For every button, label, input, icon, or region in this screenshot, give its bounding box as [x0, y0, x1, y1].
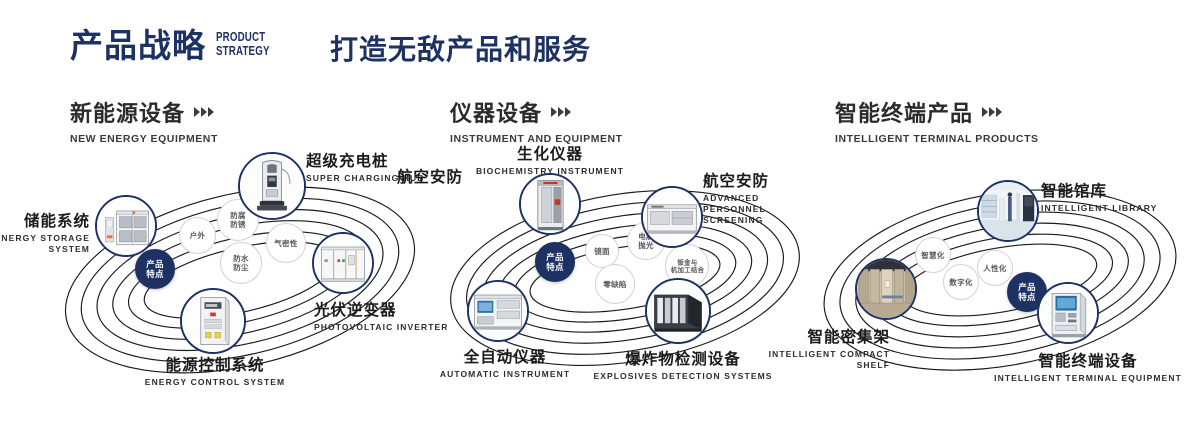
chevron-right-icon — [194, 107, 214, 117]
analyzer-icon — [643, 188, 701, 246]
node-automatic-instrument[interactable] — [467, 280, 529, 342]
node-energy-storage-system[interactable] — [95, 195, 157, 257]
page-title: 产品战略 — [70, 26, 206, 66]
charging-pile-icon — [240, 154, 304, 218]
node-advanced-personnel-screening[interactable] — [641, 186, 703, 248]
caption-explosives-detection: 爆炸物检测设备 EXPLOSIVES DETECTION SYSTEMS — [593, 350, 773, 382]
section-title-en: INTELLIGENT TERMINAL PRODUCTS — [835, 133, 1039, 145]
section-title-cn: 智能终端产品 — [835, 96, 973, 128]
poster-canvas: 产品战略 PRODUCT STRATEGY 打造无敌产品和服务 新能源设备 NE… — [0, 0, 1200, 422]
section-title-cn: 仪器设备 — [450, 96, 542, 128]
section-title-intelligent: 智能终端产品 INTELLIGENT TERMINAL PRODUCTS — [835, 96, 1039, 145]
product-feature-center-badge: 产品 特点 — [135, 249, 175, 289]
section-title-en: NEW ENERGY EQUIPMENT — [70, 133, 218, 145]
chevron-right-icon — [551, 107, 571, 117]
caption-energy-storage-system: 储能系统 ENERGY STORAGE SYSTEM — [0, 212, 90, 255]
inverter-cabinet-icon — [314, 234, 372, 292]
node-photovoltaic-inverter[interactable] — [312, 232, 374, 294]
node-explosives-detection[interactable] — [645, 278, 711, 344]
node-super-charging-hub[interactable] — [238, 152, 306, 220]
section-title-instrument: 仪器设备 INSTRUMENT AND EQUIPMENT — [450, 96, 623, 145]
node-intelligent-terminal-equipment[interactable] — [1037, 282, 1099, 344]
caption-energy-control-system: 能源控制系统 ENERGY CONTROL SYSTEM — [105, 356, 325, 388]
node-energy-control-system[interactable] — [180, 288, 246, 354]
kiosk-icon — [1039, 284, 1097, 342]
caption-automatic-instrument: 全自动仪器 AUTOMATIC INSTRUMENT — [410, 348, 600, 380]
feature-bubble: 镜面 — [585, 234, 619, 268]
caption-aviation-security-left: 航空安防 — [397, 168, 497, 187]
caption-intelligent-terminal-equipment: 智能终端设备 INTELLIGENT TERMINAL EQUIPMENT — [973, 352, 1200, 384]
node-intelligent-compact-shelf[interactable] — [855, 258, 917, 320]
security-scanner-icon — [521, 175, 579, 233]
control-cabinet-icon — [182, 290, 244, 352]
feature-bubble: 数字化 — [943, 264, 979, 300]
chevron-right-icon — [982, 107, 1002, 117]
feature-bubble: 零缺陷 — [595, 264, 635, 304]
node-intelligent-library[interactable] — [977, 180, 1039, 242]
poster-header: 产品战略 PRODUCT STRATEGY — [70, 26, 285, 66]
battery-cabinet-icon — [97, 197, 155, 255]
caption-intelligent-library: 智能馆库 INTELLIGENT LIBRARY — [1041, 182, 1200, 214]
cluster-intelligent-terminal: 智慧化 数字化 人性化 产品 特点 — [805, 160, 1200, 390]
product-feature-center-badge: 产品 特点 — [535, 242, 575, 282]
compact-shelf-icon — [857, 260, 915, 318]
feature-bubble: 防水 防尘 — [220, 242, 262, 284]
library-room-icon — [979, 182, 1037, 240]
feature-bubble: 智慧化 — [915, 237, 951, 273]
page-title-en-line2: STRATEGY — [216, 44, 270, 58]
feature-bubble: 人性化 — [977, 250, 1013, 286]
cluster-new-energy: 户外 防腐 防锈 气密性 防水 防尘 产品 特点 — [40, 160, 440, 390]
detector-rack-icon — [647, 280, 709, 342]
auto-instrument-icon — [469, 282, 527, 340]
section-title-en: INSTRUMENT AND EQUIPMENT — [450, 133, 623, 145]
feature-bubble: 户外 — [179, 217, 216, 254]
section-title-cn: 新能源设备 — [70, 96, 185, 128]
node-biochemistry-instrument[interactable] — [519, 173, 581, 235]
section-title-new-energy: 新能源设备 NEW ENERGY EQUIPMENT — [70, 96, 218, 145]
page-subtitle: 打造无敌产品和服务 — [330, 31, 591, 69]
page-title-en: PRODUCT STRATEGY — [216, 30, 270, 58]
caption-intelligent-compact-shelf: 智能密集架 INTELLIGENT COMPACT SHELF — [750, 328, 890, 371]
page-title-en-line1: PRODUCT — [216, 30, 270, 44]
feature-bubble: 气密性 — [266, 223, 306, 263]
